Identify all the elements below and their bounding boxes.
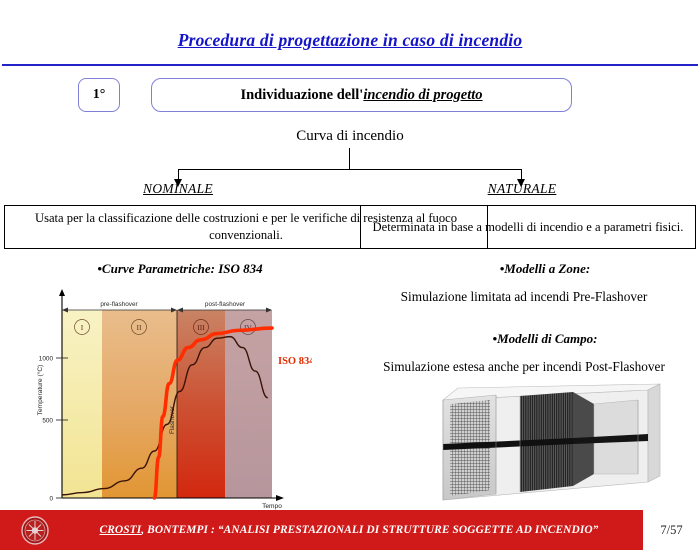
step-number-badge: 1° [78, 78, 120, 112]
description-box-naturale: Determinata in base a modelli di incendi… [360, 205, 696, 249]
chart-x-axis-title: Tempo [262, 503, 282, 510]
text-modelli-a-zone-body: Simulazione limitata ad incendi Pre-Flas… [350, 289, 698, 305]
step-row: 1° Individuazione dell'incendio di proge… [78, 78, 572, 114]
y-axis-arrow-icon [59, 289, 65, 296]
fire-curve-chart: pre-flashover post-flashover I II III IV… [22, 280, 312, 512]
ytick-label-500: 500 [42, 418, 53, 425]
step-text-plain: Individuazione dell' [240, 87, 363, 104]
phase-band-i [62, 310, 102, 498]
ytick-label-1000: 1000 [39, 356, 54, 363]
connector-vertical-center [349, 148, 350, 170]
step-text-emphasis: incendio di progetto [363, 87, 482, 104]
text-modelli-di-campo-body: Simulazione estesa anche per incendi Pos… [348, 359, 700, 375]
bullet-modelli-di-campo: •Modelli di Campo: [400, 331, 690, 347]
label-post-flashover: post-flashover [205, 301, 246, 308]
footer-citation: CROSTI, BONTEMPI : “ANALISI PRESTAZIONAL… [60, 510, 638, 550]
model-right-face [648, 384, 660, 482]
bullet-modelli-a-zone: •Modelli a Zone: [400, 261, 690, 277]
ytick-label-0: 0 [49, 496, 53, 503]
phase-band-iv [225, 310, 272, 498]
step-title-box: Individuazione dell'incendio di progetto [151, 78, 572, 112]
phase-marker-iii-label: III [197, 323, 205, 332]
footer-citation-rest: , BONTEMPI : “ANALISI PRESTAZIONALI DI S… [141, 524, 598, 536]
fire-curve-chart-svg: pre-flashover post-flashover I II III IV… [22, 280, 312, 512]
label-pre-flashover: pre-flashover [100, 301, 138, 308]
bullet-curve-parametriche: •Curve Parametriche: ISO 834 [30, 261, 330, 277]
curve-label: Curva di incendio [0, 128, 700, 145]
connector-horizontal [178, 169, 522, 170]
branch-label-naturale: NATURALE [432, 181, 612, 197]
university-seal-logo-icon [20, 516, 50, 545]
branch-label-nominale: NOMINALE [88, 181, 268, 197]
cfd-model-svg [398, 382, 688, 510]
footer-author: CROSTI [100, 524, 142, 536]
x-axis-arrow-icon [276, 495, 284, 501]
page-title: Procedura di progettazione in caso di in… [0, 30, 700, 51]
cfd-model-figure [398, 382, 688, 510]
footer: CROSTI, BONTEMPI : “ANALISI PRESTAZIONAL… [0, 510, 700, 550]
series-label-iso-834: ISO 834 [278, 356, 312, 367]
page-number: 7/57 [643, 510, 700, 550]
title-divider [2, 64, 698, 66]
phase-marker-ii-label: II [137, 323, 142, 332]
chart-y-axis-title: Temperature (°C) [36, 365, 44, 416]
